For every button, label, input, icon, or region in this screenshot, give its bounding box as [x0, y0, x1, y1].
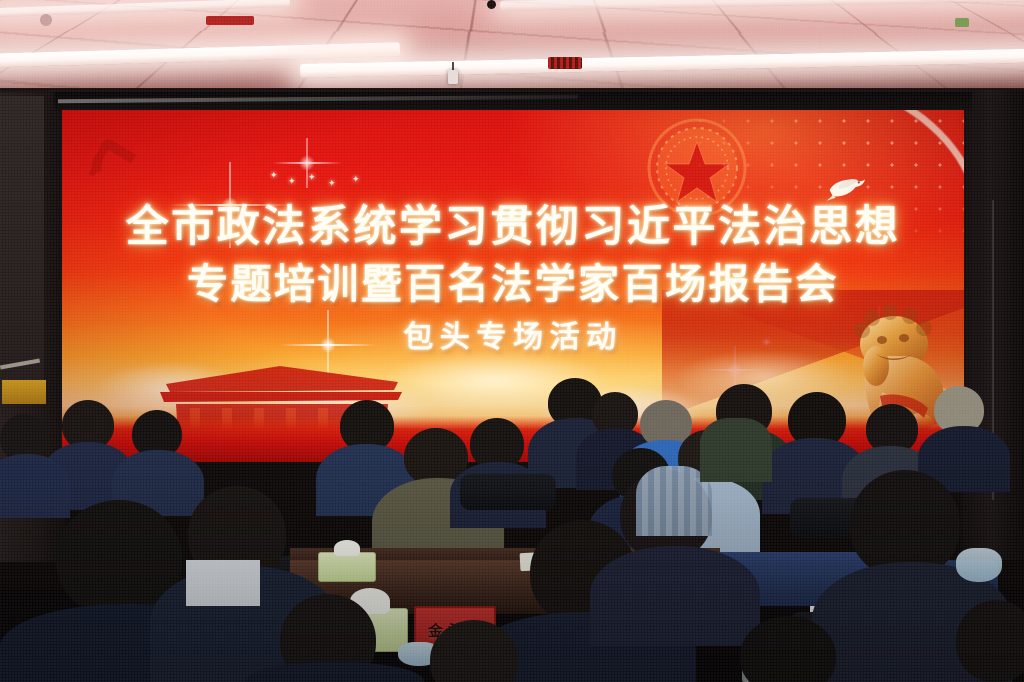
attendee-body	[246, 662, 424, 682]
sprinkler-icon	[448, 70, 458, 84]
face-mask	[398, 642, 440, 666]
attendee-body	[0, 604, 262, 682]
tissue-box	[334, 608, 408, 652]
attendee-head	[280, 594, 376, 682]
conference-photo-scene: ✦ ✦ ✦ ✦ ✦ ✦	[0, 0, 1024, 682]
tissue-box	[928, 618, 996, 660]
ceiling	[0, 0, 1024, 96]
teacup-with-lid	[810, 594, 844, 620]
thermos-flask	[742, 648, 788, 682]
ceiling-vent-icon	[548, 57, 582, 69]
ceiling-mount-icon	[487, 0, 496, 9]
banner-subtitle-line-3: 包头专场活动	[62, 312, 964, 356]
tissue-sheet	[946, 600, 980, 622]
tissue-sheet	[350, 588, 390, 614]
led-banner-screen: ✦ ✦ ✦ ✦ ✦ ✦	[62, 110, 964, 462]
banner-title-line-1: 全市政法系统学习贯彻习近平法治思想	[62, 192, 964, 254]
attendee-body	[478, 612, 696, 682]
wall-seam	[992, 200, 994, 500]
attendee-head	[956, 600, 1024, 682]
ceiling-vent-icon	[206, 16, 254, 25]
chair-back	[790, 612, 904, 678]
attendee-head	[430, 620, 518, 682]
nameplate: 金永强	[414, 606, 496, 654]
ceiling-sensor-icon	[955, 18, 969, 27]
left-wall-panel	[0, 96, 44, 396]
attendee-head	[740, 616, 836, 682]
ceiling-speaker-icon	[40, 14, 52, 26]
wall-amber-panel	[2, 380, 46, 404]
banner-title-line-2: 专题培训暨百名法学家百场报告会	[62, 250, 964, 310]
